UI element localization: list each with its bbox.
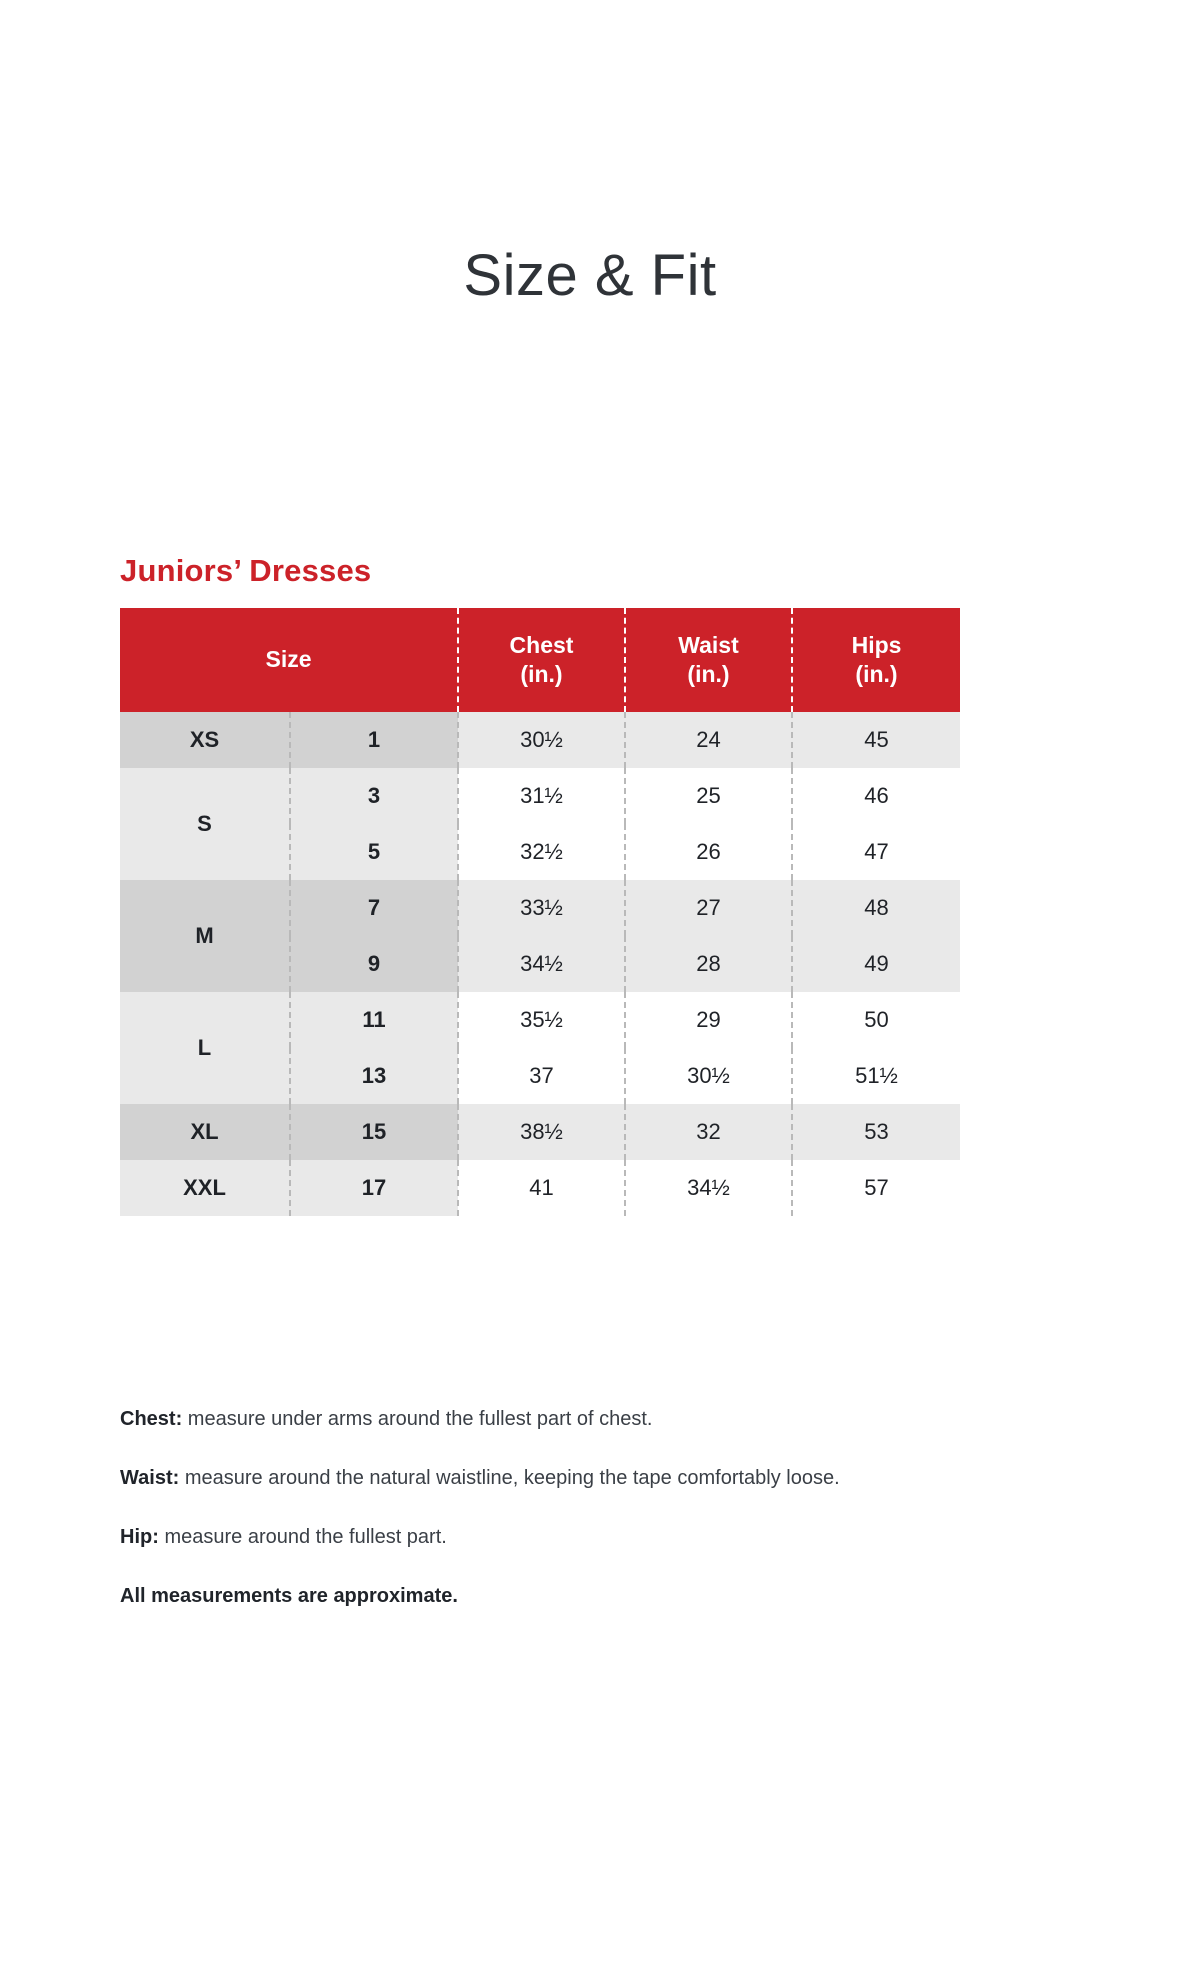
chest-cell: 41	[458, 1160, 625, 1216]
column-header-waist: Waist (in.)	[625, 608, 792, 712]
waist-cell: 26	[625, 824, 792, 880]
column-header-hips-unit: (in.)	[793, 660, 960, 689]
size-fit-page: Size & Fit Juniors’ Dresses Size Chest (…	[0, 0, 1200, 1971]
size-label-cell: L	[120, 992, 290, 1104]
size-label-cell: M	[120, 880, 290, 992]
table-row: M733½2748	[120, 880, 960, 936]
waist-cell: 29	[625, 992, 792, 1048]
measurement-note: Hip: measure around the fullest part.	[120, 1523, 1000, 1552]
hips-cell: 51½	[792, 1048, 960, 1104]
note-term: Waist:	[120, 1467, 179, 1489]
chest-cell: 37	[458, 1048, 625, 1104]
numeric-size-cell: 15	[290, 1104, 458, 1160]
table-row: XXL174134½57	[120, 1160, 960, 1216]
chest-cell: 30½	[458, 712, 625, 768]
measurement-note: Chest: measure under arms around the ful…	[120, 1405, 1000, 1434]
column-header-size: Size	[120, 608, 458, 712]
size-label-cell: XS	[120, 712, 290, 768]
numeric-size-cell: 5	[290, 824, 458, 880]
note-term: Chest:	[120, 1408, 182, 1430]
hips-cell: 47	[792, 824, 960, 880]
waist-cell: 27	[625, 880, 792, 936]
chest-cell: 33½	[458, 880, 625, 936]
column-header-chest-label: Chest	[510, 632, 574, 658]
measurement-notes: Chest: measure under arms around the ful…	[120, 1385, 1000, 1611]
numeric-size-cell: 7	[290, 880, 458, 936]
hips-cell: 45	[792, 712, 960, 768]
waist-cell: 34½	[625, 1160, 792, 1216]
table-row: XL1538½3253	[120, 1104, 960, 1160]
hips-cell: 57	[792, 1160, 960, 1216]
chest-cell: 32½	[458, 824, 625, 880]
chest-cell: 35½	[458, 992, 625, 1048]
numeric-size-cell: 9	[290, 936, 458, 992]
column-header-chest-unit: (in.)	[459, 660, 624, 689]
chest-cell: 31½	[458, 768, 625, 824]
chest-cell: 38½	[458, 1104, 625, 1160]
chest-cell: 34½	[458, 936, 625, 992]
numeric-size-cell: 3	[290, 768, 458, 824]
measurement-note: Waist: measure around the natural waistl…	[120, 1464, 1000, 1493]
size-label-cell: XXL	[120, 1160, 290, 1216]
numeric-size-cell: 17	[290, 1160, 458, 1216]
column-header-hips-label: Hips	[852, 632, 902, 658]
note-term: Hip:	[120, 1526, 159, 1548]
size-chart-container: Size Chest (in.) Waist (in.) Hips (in.)	[120, 608, 960, 1216]
table-row: XS130½2445	[120, 712, 960, 768]
measurement-note: All measurements are approximate.	[120, 1582, 1000, 1611]
table-header: Size Chest (in.) Waist (in.) Hips (in.)	[120, 608, 960, 712]
column-header-waist-label: Waist	[678, 632, 739, 658]
waist-cell: 24	[625, 712, 792, 768]
size-chart-table: Size Chest (in.) Waist (in.) Hips (in.)	[120, 608, 960, 1216]
table-header-row: Size Chest (in.) Waist (in.) Hips (in.)	[120, 608, 960, 712]
table-row: S331½2546	[120, 768, 960, 824]
section-heading-juniors-dresses: Juniors’ Dresses	[120, 553, 371, 589]
table-row: L1135½2950	[120, 992, 960, 1048]
size-label-cell: S	[120, 768, 290, 880]
waist-cell: 28	[625, 936, 792, 992]
hips-cell: 50	[792, 992, 960, 1048]
hips-cell: 49	[792, 936, 960, 992]
page-title: Size & Fit	[0, 244, 1180, 308]
table-body: XS130½2445S331½2546532½2647M733½2748934½…	[120, 712, 960, 1216]
hips-cell: 48	[792, 880, 960, 936]
column-header-waist-unit: (in.)	[626, 660, 791, 689]
waist-cell: 32	[625, 1104, 792, 1160]
column-header-chest: Chest (in.)	[458, 608, 625, 712]
hips-cell: 53	[792, 1104, 960, 1160]
waist-cell: 25	[625, 768, 792, 824]
waist-cell: 30½	[625, 1048, 792, 1104]
size-label-cell: XL	[120, 1104, 290, 1160]
numeric-size-cell: 11	[290, 992, 458, 1048]
hips-cell: 46	[792, 768, 960, 824]
column-header-hips: Hips (in.)	[792, 608, 960, 712]
numeric-size-cell: 1	[290, 712, 458, 768]
numeric-size-cell: 13	[290, 1048, 458, 1104]
